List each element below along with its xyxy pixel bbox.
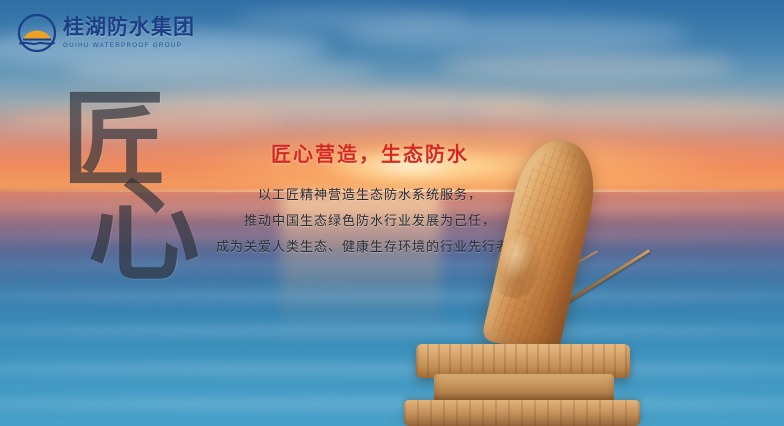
logo-company-name-en: GUIHU WATERPROOF GROUP (63, 42, 191, 49)
subtitle-line-1: 以工匠精神营造生态防水系统服务， (160, 183, 580, 209)
company-logo[interactable]: 桂湖防水集团 GUIHU WATERPROOF GROUP (18, 14, 195, 52)
slogan-block: 匠心营造，生态防水 以工匠精神营造生态防水系统服务， 推动中国生态绿色防水行业发… (160, 138, 580, 261)
headline: 匠心营造，生态防水 (160, 138, 580, 167)
wave-band (0, 396, 784, 411)
sunrise-mountain-icon (18, 14, 56, 52)
subtitle-line-2: 推动中国生态绿色防水行业发展为己任， (160, 209, 580, 235)
logo-company-name-cn: 桂湖防水集团 (63, 16, 195, 38)
banner-image: 桂湖防水集团 GUIHU WATERPROOF GROUP 匠 心 匠心营造，生… (0, 0, 784, 426)
wave-band (0, 324, 784, 337)
subtitle-line-3: 成为关爱人类生态、健康生存环境的行业先行者！ (160, 235, 580, 261)
wave-band (0, 362, 784, 376)
